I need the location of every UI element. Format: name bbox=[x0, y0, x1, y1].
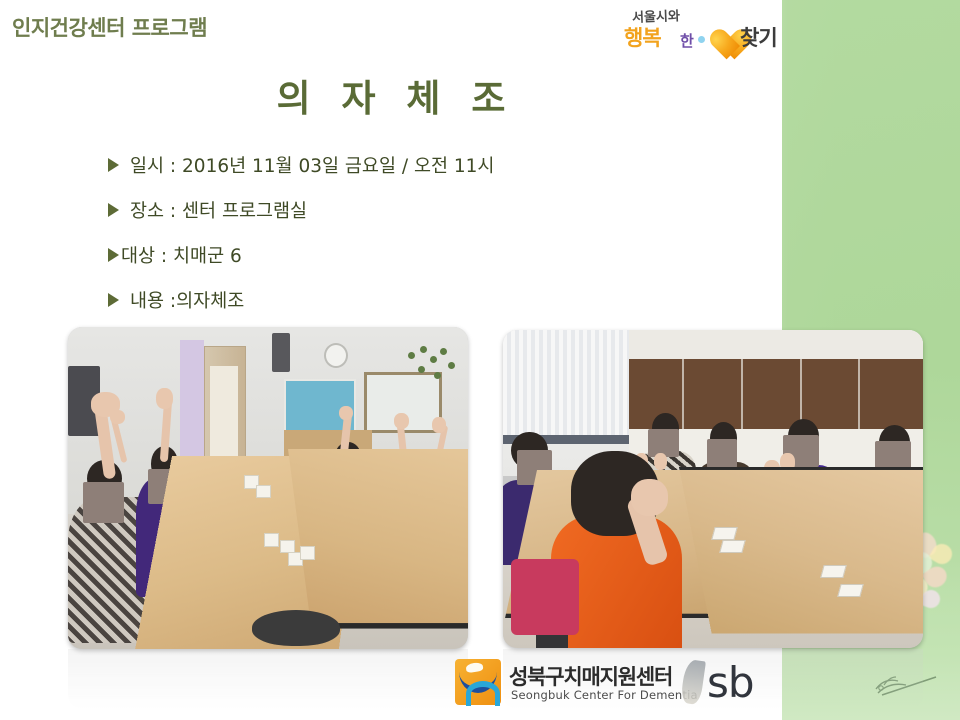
center-logo-mark-icon bbox=[455, 659, 501, 705]
heart-icon bbox=[702, 14, 740, 48]
person-figure-icon bbox=[459, 668, 497, 700]
door-panel bbox=[210, 366, 238, 463]
list-item: 내용 :의자체조 bbox=[108, 287, 708, 332]
wall-panel-upper bbox=[629, 330, 923, 359]
participant-figure bbox=[100, 443, 152, 552]
triangle-bullet-icon bbox=[108, 203, 119, 217]
paper-card bbox=[280, 540, 295, 554]
wall-clock bbox=[324, 343, 348, 368]
chair-exercise-photo-left bbox=[68, 327, 468, 649]
logo-legs-icon bbox=[466, 681, 500, 706]
meeting-table-right bbox=[679, 467, 923, 633]
page-title: 의 자 체 조 bbox=[0, 68, 782, 122]
photo-scene-right bbox=[503, 330, 923, 648]
paper-card bbox=[720, 540, 746, 553]
center-name-korean: 성북구치매지원센터 bbox=[509, 661, 672, 691]
table-base bbox=[252, 610, 340, 645]
list-item: 일시 : 2016년 11월 03일 금요일 / 오전 11시 bbox=[108, 152, 708, 197]
list-item-text: 대상 : 치매군 6 bbox=[121, 242, 242, 268]
feather-icon bbox=[680, 659, 706, 705]
program-details-list: 일시 : 2016년 11월 03일 금요일 / 오전 11시 장소 : 센터 … bbox=[108, 152, 708, 332]
triangle-bullet-icon bbox=[108, 248, 119, 262]
program-title: 인지건강센터 프로그램 bbox=[12, 12, 207, 42]
triangle-bullet-icon bbox=[108, 293, 119, 307]
paper-card bbox=[264, 533, 279, 547]
heart-dot-icon bbox=[698, 36, 705, 43]
paper-card bbox=[837, 584, 863, 597]
chair-exercise-photo-right bbox=[503, 330, 923, 648]
paper-card bbox=[711, 527, 737, 540]
list-item: 대상 : 치매군 6 bbox=[108, 242, 708, 287]
paper-card bbox=[256, 485, 271, 499]
photo-scene-left bbox=[68, 327, 468, 649]
paper-card bbox=[820, 565, 846, 578]
slide-canvas: 인지건강센터 프로그램 서울시와 행복 한 찾기 의 자 체 조 일시 : 20… bbox=[0, 0, 960, 720]
sb-wordmark: sb bbox=[707, 655, 754, 711]
wall-vine-decor bbox=[404, 346, 460, 398]
list-item: 장소 : 센터 프로그램실 bbox=[108, 197, 708, 242]
chair bbox=[511, 559, 578, 635]
triangle-bullet-icon bbox=[108, 158, 119, 172]
list-item-text: 내용 :의자체조 bbox=[130, 287, 244, 313]
center-name-english: Seongbuk Center For Dementia bbox=[511, 688, 698, 702]
wall-speaker bbox=[272, 333, 290, 372]
window-blind bbox=[503, 330, 629, 438]
paper-card bbox=[300, 546, 315, 560]
logo-han-text: 한 bbox=[680, 30, 694, 51]
list-item-text: 장소 : 센터 프로그램실 bbox=[130, 197, 307, 223]
meeting-table-right bbox=[288, 449, 468, 629]
logo-find-text: 찾기 bbox=[740, 22, 777, 52]
reflection-left bbox=[68, 649, 468, 709]
logo-happy-text: 행복 bbox=[624, 22, 661, 52]
seongbuk-dementia-center-logo: 성북구치매지원센터 Seongbuk Center For Dementia s… bbox=[455, 657, 775, 713]
seoul-happy-logo: 서울시와 행복 한 찾기 bbox=[624, 6, 784, 56]
list-item-text: 일시 : 2016년 11월 03일 금요일 / 오전 11시 bbox=[130, 152, 494, 178]
